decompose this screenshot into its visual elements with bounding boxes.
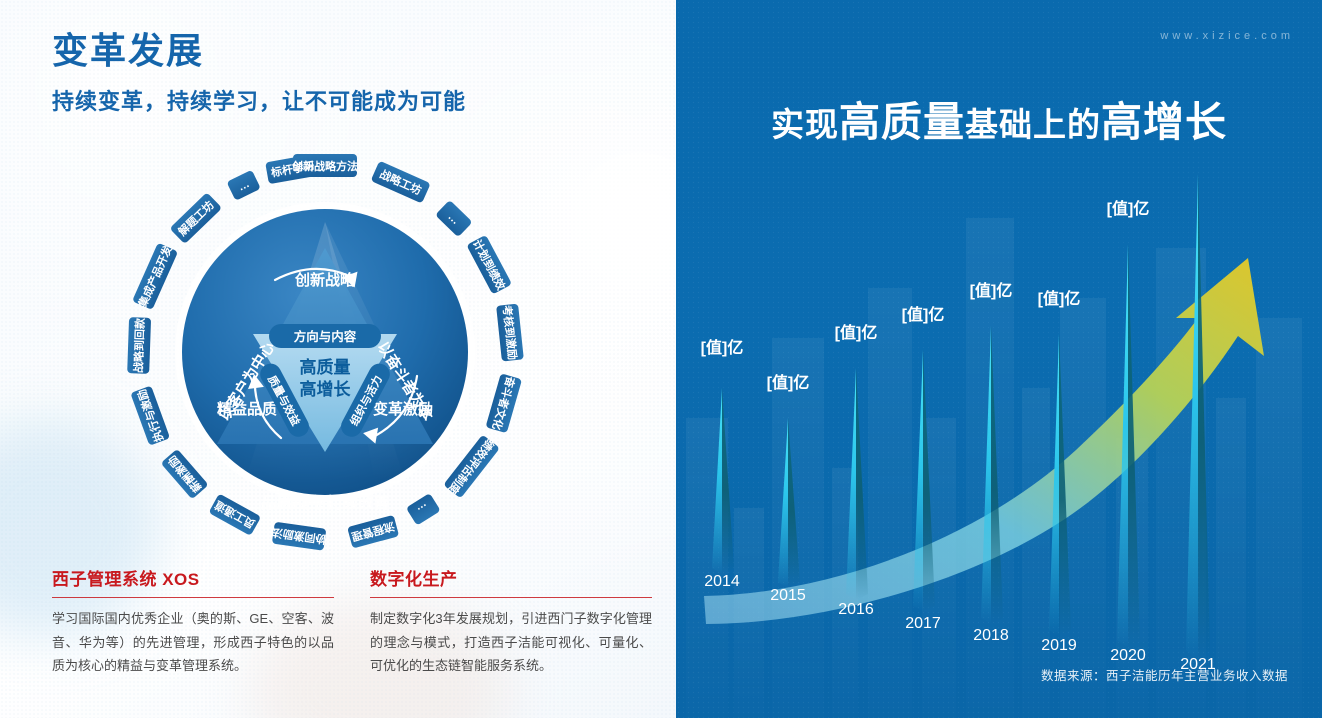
title-part-3: 基础上的 xyxy=(965,106,1101,143)
column-heading: 数字化生产 xyxy=(370,565,652,597)
column-heading: 西子管理系统 XOS xyxy=(52,565,334,597)
right-panel: www.xizice.com 实现高质量基础上的高增长 xyxy=(676,0,1322,718)
chart-title: 实现高质量基础上的高增长 xyxy=(676,88,1322,148)
chart-source-note: 数据来源：西子洁能历年主营业务收入数据 xyxy=(1041,665,1288,684)
core-line-2: 高增长 xyxy=(300,379,352,399)
category-label-2017: 2017 xyxy=(905,615,941,632)
svg-text:绩效评估制度: 绩效评估制度 xyxy=(445,436,497,497)
info-column-digital: 数字化生产 制定数字化3年发展规划，引进西门子数字化管理的理念与模式，打造西子洁… xyxy=(370,565,652,678)
column-rule xyxy=(52,597,334,598)
diagram-bottom-caption: 品质领先 持续改善 xyxy=(261,493,390,512)
svg-text:方向与内容: 方向与内容 xyxy=(294,329,357,344)
category-label-2016: 2016 xyxy=(838,601,874,618)
slide-root: 变革发展 持续变革，持续学习，让不可能成为可能 xyxy=(0,0,1322,718)
column-rule xyxy=(370,597,652,598)
title-part-2: 高质量 xyxy=(839,99,965,145)
data-label-group: [值]亿 [值]亿 [值]亿 [值]亿 [值]亿 [值]亿 [值]亿 [值]亿 xyxy=(701,150,1220,392)
bar-2017 xyxy=(913,350,935,612)
bar-2016 xyxy=(846,368,868,600)
strategy-circle-diagram: 创新战略方法 战略工坊 … 计划到绩效 考核到激励 奋斗者文化 绩效评估制度 …… xyxy=(125,152,525,552)
data-label-2016: [值]亿 xyxy=(835,323,878,342)
left-columns: 西子管理系统 XOS 学习国际国内优秀企业（奥的斯、GE、空客、波音、华为等）的… xyxy=(52,565,652,678)
title-part-1: 实现 xyxy=(771,106,839,143)
growth-bar-chart: [值]亿 [值]亿 [值]亿 [值]亿 [值]亿 [值]亿 [值]亿 [值]亿 … xyxy=(676,150,1322,670)
title-part-4: 高增长 xyxy=(1101,99,1227,145)
bar-2018 xyxy=(981,326,1003,624)
column-body: 学习国际国内优秀企业（奥的斯、GE、空客、波音、华为等）的先进管理，形成西子特色… xyxy=(52,607,334,678)
page-title: 变革发展 xyxy=(52,30,466,72)
category-label-2015: 2015 xyxy=(770,587,806,604)
bar-2015 xyxy=(778,418,800,588)
left-heading-group: 变革发展 持续变革，持续学习，让不可能成为可能 xyxy=(52,30,466,116)
bar-2014 xyxy=(712,388,734,574)
core-line-1: 高质量 xyxy=(300,357,351,377)
info-column-xos: 西子管理系统 XOS 学习国际国内优秀企业（奥的斯、GE、空客、波音、华为等）的… xyxy=(52,565,334,678)
category-label-2019: 2019 xyxy=(1041,637,1077,654)
data-label-2015: [值]亿 xyxy=(767,373,810,392)
page-subtitle: 持续变革，持续学习，让不可能成为可能 xyxy=(52,84,466,116)
category-label-2014: 2014 xyxy=(704,573,740,590)
data-label-2017: [值]亿 xyxy=(902,305,945,324)
category-label-2020: 2020 xyxy=(1110,647,1146,664)
decorative-blob xyxy=(560,140,676,300)
data-label-2019: [值]亿 xyxy=(1038,289,1081,308)
column-body: 制定数字化3年发展规划，引进西门子数字化管理的理念与模式，打造西子洁能可视化、可… xyxy=(370,607,652,678)
data-label-2014: [值]亿 xyxy=(701,338,744,357)
watermark-url: www.xizice.com xyxy=(1160,30,1294,42)
left-panel: 变革发展 持续变革，持续学习，让不可能成为可能 xyxy=(0,0,676,718)
data-label-2018: [值]亿 xyxy=(970,281,1013,300)
category-label-2018: 2018 xyxy=(973,627,1009,644)
bar-2021 xyxy=(1186,174,1210,660)
data-label-2020: [值]亿 xyxy=(1107,199,1150,218)
